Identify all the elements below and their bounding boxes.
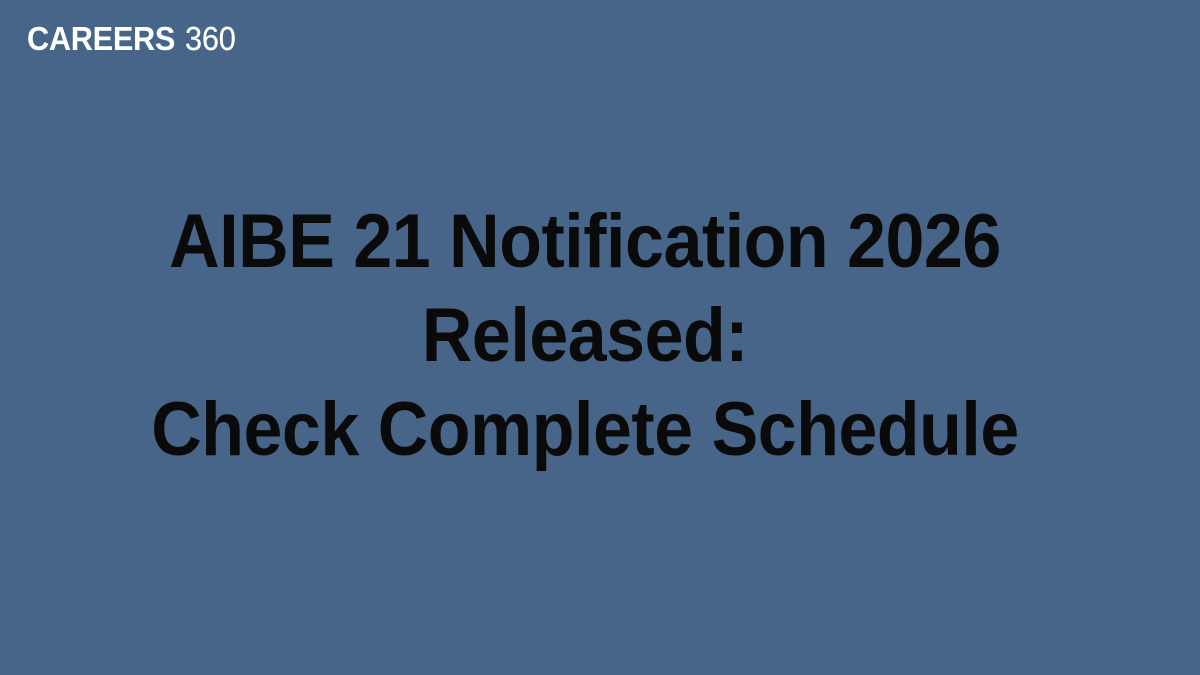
headline-line-3: Check Complete Schedule <box>47 383 1123 477</box>
headline-line-1: AIBE 21 Notification 2026 <box>47 195 1123 289</box>
headline-line-2: Released: <box>47 289 1123 383</box>
headline-block: AIBE 21 Notification 2026 Released: Chec… <box>0 195 1170 477</box>
logo-primary-text: CAREERS <box>27 22 175 55</box>
promo-banner: CAREERS 360 AIBE 21 Notification 2026 Re… <box>0 0 1200 675</box>
logo-secondary-text: 360 <box>185 22 236 55</box>
careers360-logo[interactable]: CAREERS 360 <box>27 22 240 55</box>
